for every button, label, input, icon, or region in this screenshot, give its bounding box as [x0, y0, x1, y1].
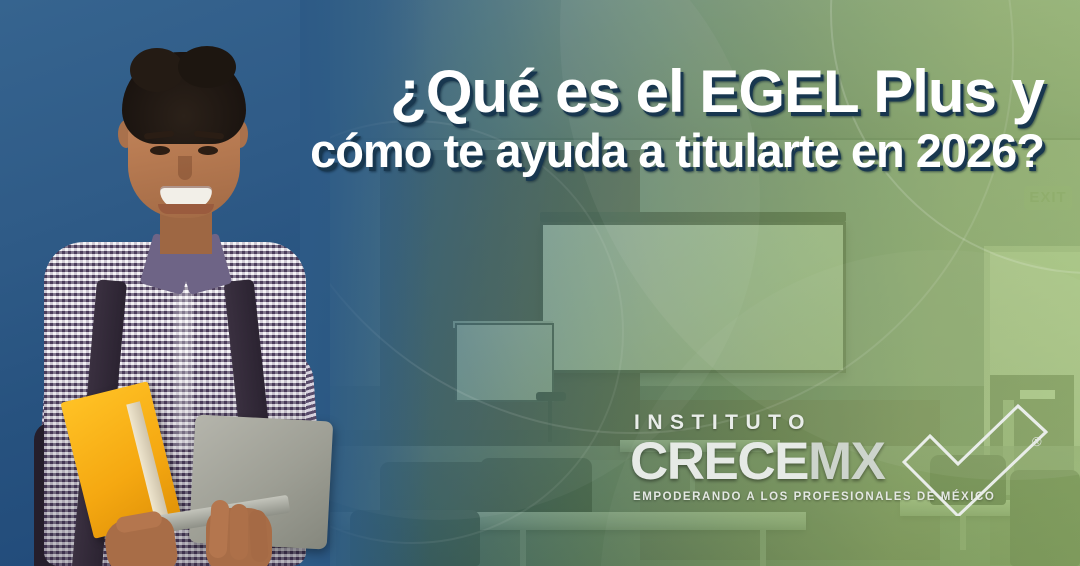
hair-tuft — [130, 48, 184, 92]
headline-line-1: ¿Qué es el EGEL Plus y — [250, 60, 1062, 124]
headline: ¿Qué es el EGEL Plus y cómo te ayuda a t… — [250, 60, 1062, 178]
registered-trademark-symbol: ® — [1032, 434, 1042, 449]
finger — [230, 504, 248, 560]
logo-name-crece: CRECE — [630, 432, 808, 491]
finger — [208, 500, 229, 559]
hair-tuft — [178, 46, 236, 88]
brand-logo[interactable]: INSTITUTO CRECEMX EMPODERANDO A LOS PROF… — [630, 412, 1050, 512]
checkmark-outline-icon — [900, 404, 1050, 516]
finger — [248, 509, 269, 562]
eye-left — [150, 146, 170, 155]
logo-name-mx: MX — [808, 432, 885, 491]
eye-right — [198, 146, 218, 155]
promo-banner: EXIT — [0, 0, 1080, 566]
nose — [178, 156, 192, 180]
headline-line-2: cómo te ayuda a titularte en 2026? — [250, 124, 1062, 178]
neck — [160, 212, 212, 254]
lower-lip — [158, 204, 214, 214]
